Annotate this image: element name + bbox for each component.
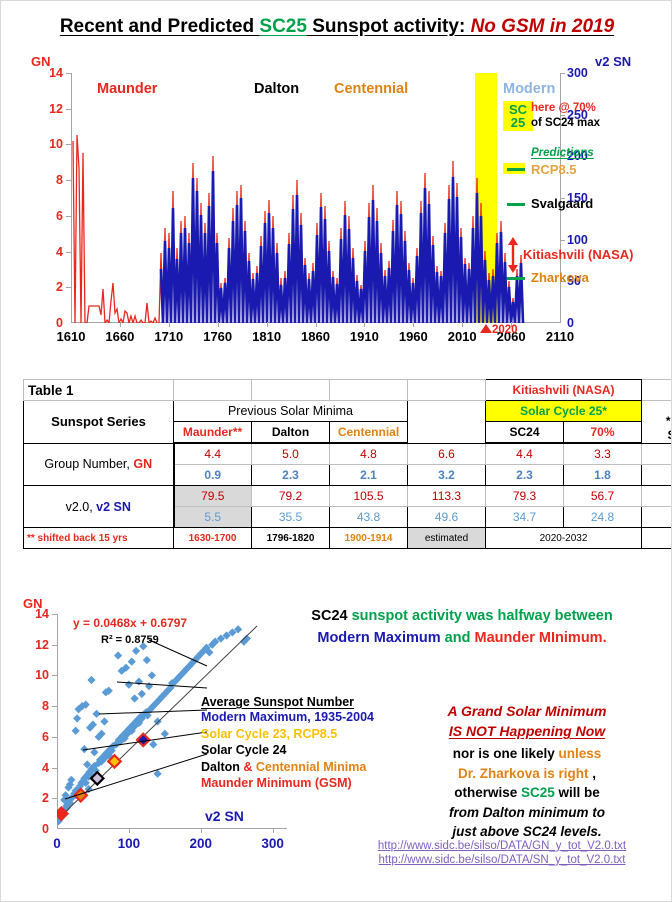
conclusion-willbe: will be <box>555 785 600 800</box>
conclusion-line-3: otherwise SC25 will be <box>383 783 671 803</box>
cell-sn-max-sc24: 113.3 <box>408 486 486 507</box>
sn-tick-300: 300 <box>567 66 607 80</box>
x-tick-1610: 1610 <box>57 329 86 344</box>
year-2020-marker-icon <box>480 324 492 333</box>
scatter-x-tick-100: 100 <box>118 836 141 851</box>
link-gn-data[interactable]: http://www.sidc.be/silso/DATA/GN_y_tot_V… <box>337 839 667 853</box>
range-centennial: 1900-1914 <box>330 528 408 549</box>
x-tick-1810: 1810 <box>252 329 281 344</box>
scatter-gn-tick-6: 6 <box>23 730 49 744</box>
conclusion-unless: unless <box>559 746 602 761</box>
summary-modern-max: Modern Maximum <box>317 630 440 646</box>
title-part-2: Sunspot activity: <box>307 16 471 37</box>
header-maunder: Maunder** <box>174 422 252 444</box>
legend-centennial-word: Centennial Minima <box>256 760 366 774</box>
scatter-gn-tick-12: 12 <box>23 638 49 652</box>
cell-sn-max-centennial: 105.5 <box>330 486 408 507</box>
range-sc25: 2020-2032 <box>486 528 642 549</box>
table-row: v2.0, v2 SN 79.5 79.2 105.5 113.3 79.3 5… <box>24 486 672 507</box>
cell-sn-ave-maunder: 5.5 <box>174 507 252 528</box>
figure-title: Recent and Predicted SC25 Sunspot activi… <box>11 11 663 43</box>
table-title-row: Table 1 Kitiashvili (NASA) <box>24 380 672 401</box>
row-label-sn-pre: v2.0, <box>66 500 97 514</box>
summary-l1b: sunspot activity was halfway between <box>348 608 613 624</box>
summary-text: SC24 sunspot activity was halfway betwee… <box>257 605 667 649</box>
scatter-gn-tick-14: 14 <box>23 607 49 621</box>
predictions-heading: Predictions <box>531 147 594 159</box>
conclusion-em-2: IS NOT Happening Now <box>383 721 671 741</box>
kitiashvili-header: Kitiashvili (NASA) <box>513 383 615 397</box>
x-tick-1960: 1960 <box>399 329 428 344</box>
cell-gn-max-tag: max <box>642 443 672 465</box>
row-label-sn-em: v2 SN <box>96 500 131 514</box>
range-dalton: 1796-1820 <box>252 528 330 549</box>
summary-maunder-min: Maunder MInimum. <box>474 630 606 646</box>
sn-tick-100: 100 <box>567 233 607 247</box>
conclusion-line-1: nor is one likely unless <box>383 744 671 764</box>
cell-gn-ave-50: 1.8 <box>564 465 642 486</box>
svalgaard-dash-icon <box>507 203 525 206</box>
scatter-gn-tick-4: 4 <box>23 761 49 775</box>
table-footer-row: ** shifted back 15 yrs 1630-1700 1796-18… <box>24 528 672 549</box>
legend-dalton-word: Dalton <box>201 760 243 774</box>
prediction-zharkova-label: Zharkova <box>531 270 589 285</box>
title-no-gsm: No GSM in 2019 <box>471 16 615 37</box>
title-sc25: SC25 <box>259 16 307 37</box>
gn-tick-4: 4 <box>29 245 63 259</box>
gn-tick-0: 0 <box>29 316 63 330</box>
zharkova-dash-icon <box>507 277 525 280</box>
cell-gn-max-sc24: 6.6 <box>408 443 486 465</box>
cell-gn-max-centennial: 4.8 <box>330 443 408 465</box>
scatter-x-axis-title: v2 SN <box>205 808 244 824</box>
cell-sn-max-maunder: 79.5 <box>174 486 252 507</box>
x-tick-1710: 1710 <box>154 329 183 344</box>
era-label-centennial: Centennial <box>334 81 408 97</box>
header-previous-minima: Previous Solar Minima <box>174 401 408 422</box>
header-pct-of: * % of <box>644 414 672 428</box>
legend-amp: & <box>243 760 256 774</box>
of-sc24-max-label: of SC24 max <box>531 117 600 129</box>
scatter-x-tick-200: 200 <box>190 836 213 851</box>
conclusion-text: A Grand Solar Minimum IS NOT Happening N… <box>383 701 671 842</box>
scatter-gn-tick-2: 2 <box>23 791 49 805</box>
link-sn-data[interactable]: http://www.sidc.be/silso/DATA/SN_y_tot_V… <box>337 853 667 867</box>
scatter-x-tick-0: 0 <box>53 836 61 851</box>
table-row: Group Number, GN 4.4 5.0 4.8 6.6 4.4 3.3… <box>24 443 672 465</box>
conclusion-em-1: A Grand Solar Minimum <box>383 701 671 721</box>
cell-sn-ave-sc24: 49.6 <box>408 507 486 528</box>
header-pct-70: 70% <box>564 422 642 444</box>
cell-gn-max-dalton: 5.0 <box>252 443 330 465</box>
cell-gn-ave-70: 2.3 <box>486 465 564 486</box>
table-1: Table 1 Kitiashvili (NASA) Sunspot Serie… <box>23 379 653 549</box>
figure-page: Recent and Predicted SC25 Sunspot activi… <box>0 0 672 902</box>
summary-line-1: SC24 sunspot activity was halfway betwee… <box>257 605 667 627</box>
cell-sn-ave-dalton: 35.5 <box>252 507 330 528</box>
x-tick-1660: 1660 <box>105 329 134 344</box>
x-tick-1860: 1860 <box>301 329 330 344</box>
kitiashvili-range-arrow-icon <box>505 237 521 273</box>
scatter-gn-tick-8: 8 <box>23 699 49 713</box>
gn-tick-12: 12 <box>29 102 63 116</box>
row-label-gn-em: GN <box>133 457 152 471</box>
sc25-badge: SC 25 <box>503 101 533 131</box>
conclusion-line-4: from Dalton minimum to <box>383 803 671 823</box>
table-header-row-1: Sunspot Series Previous Solar Minima Sol… <box>24 401 672 422</box>
scatter-gn-tick-10: 10 <box>23 668 49 682</box>
x-tick-1910: 1910 <box>350 329 379 344</box>
timeseries-plot-area: 14 12 10 8 6 4 2 0 300 250 200 150 100 5… <box>71 73 561 323</box>
prediction-kitiashvili-label: Kitiashvili (NASA) <box>523 247 634 262</box>
timeseries-curves <box>71 73 561 323</box>
header-solar-cycle-25: Solar Cycle 25* <box>486 401 642 422</box>
x-tick-2110: 2110 <box>546 329 574 344</box>
row-label-gn-pre: Group Number, <box>44 457 133 471</box>
era-label-modern: Modern <box>503 81 555 97</box>
sc25-badge-line2: 25 <box>507 116 529 129</box>
cell-gn-ave-dalton: 2.3 <box>252 465 330 486</box>
x-tick-1760: 1760 <box>203 329 232 344</box>
gn-tick-6: 6 <box>29 209 63 223</box>
gn-tick-10: 10 <box>29 137 63 151</box>
here-at-70-label: here @ 70% <box>531 102 596 114</box>
cell-sn-max-50: 56.7 <box>564 486 642 507</box>
scatter-gn-tick-0: 0 <box>23 822 49 836</box>
x-tick-2010: 2010 <box>448 329 477 344</box>
cell-sn-ave-centennial: 43.8 <box>330 507 408 528</box>
era-label-maunder: Maunder <box>97 81 157 97</box>
gn-tick-2: 2 <box>29 280 63 294</box>
cell-sn-ave-50: 24.8 <box>564 507 642 528</box>
conclusion-otherwise: otherwise <box>454 785 521 800</box>
summary-sc24: SC24 <box>311 608 347 624</box>
conclusion-zharkova: Dr. Zharkova is right <box>458 766 589 781</box>
source-links: http://www.sidc.be/silso/DATA/GN_y_tot_V… <box>337 839 667 867</box>
cell-sn-ave-70: 34.7 <box>486 507 564 528</box>
cell-gn-ave-maunder: 0.9 <box>174 465 252 486</box>
era-label-dalton: Dalton <box>254 81 299 97</box>
sn-series-line <box>161 171 523 323</box>
summary-and: and <box>441 630 475 646</box>
sn-tick-0: 0 <box>567 316 607 330</box>
gn-tick-8: 8 <box>29 173 63 187</box>
prediction-svalgaard-label: Svalgaard <box>531 196 593 211</box>
cell-gn-ave-sc24: 3.2 <box>408 465 486 486</box>
summary-line-2: Modern Maximum and Maunder MInimum. <box>257 627 667 649</box>
footnote-shifted: ** shifted back 15 yrs <box>24 528 174 549</box>
cell-gn-max-70: 4.4 <box>486 443 564 465</box>
cell-sn-max-tag: max <box>642 486 672 507</box>
header-centennial: Centennial <box>330 422 408 444</box>
year-2020-label: 2020 <box>492 324 518 336</box>
conclusion-sc25: SC25 <box>521 785 555 800</box>
cell-sn-ave-tag: ave <box>642 507 672 528</box>
rcp85-dash-icon <box>507 168 525 171</box>
cell-gn-ave-tag: ave <box>642 465 672 486</box>
title-part-1: Recent and Predicted <box>60 16 260 37</box>
conclusion-nor: nor is one likely <box>453 746 559 761</box>
cell-sn-max-70: 79.3 <box>486 486 564 507</box>
scatter-x-tick-300: 300 <box>261 836 284 851</box>
header-dalton: Dalton <box>252 422 330 444</box>
header-pct-sc24: SC24 <box>644 428 672 442</box>
prediction-rcp85-label: RCP8.5 <box>531 162 577 177</box>
range-maunder: 1630-1700 <box>174 528 252 549</box>
cell-gn-ave-centennial: 2.1 <box>330 465 408 486</box>
table-title: Table 1 <box>24 380 174 401</box>
header-sc24: SC24 <box>486 422 564 444</box>
conclusion-comma: , <box>589 766 597 781</box>
cell-gn-max-50: 3.3 <box>564 443 642 465</box>
timeseries-chart: GN v2 SN 14 12 10 8 6 4 2 0 300 250 20 <box>9 51 665 346</box>
header-sunspot-series: Sunspot Series <box>24 401 174 444</box>
gn-tick-14: 14 <box>29 66 63 80</box>
conclusion-line-2: Dr. Zharkova is right , <box>383 764 671 784</box>
cell-sn-max-dalton: 79.2 <box>252 486 330 507</box>
range-sc24: estimated <box>408 528 486 549</box>
cell-gn-max-maunder: 4.4 <box>174 443 252 465</box>
